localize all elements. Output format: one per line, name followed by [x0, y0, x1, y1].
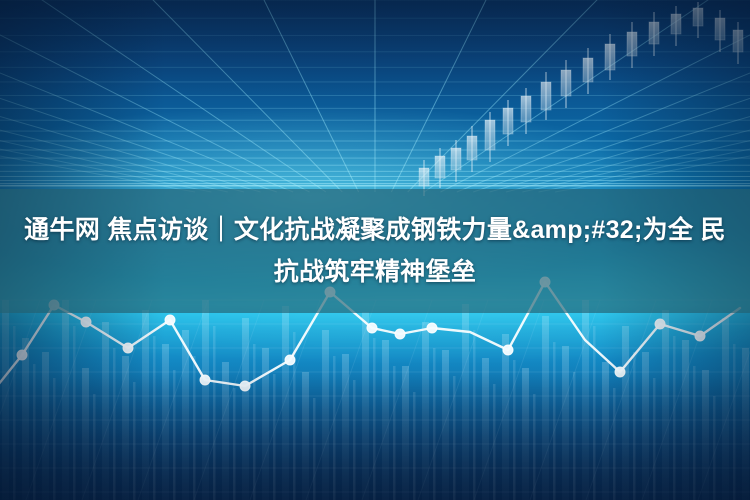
banner-image: 通牛网 焦点访谈｜文化抗战凝聚成钢铁力量&amp;#32;为全 民抗战筑牢精神堡… — [0, 0, 750, 500]
headline-band: 通牛网 焦点访谈｜文化抗战凝聚成钢铁力量&amp;#32;为全 民抗战筑牢精神堡… — [0, 189, 750, 313]
headline-line-1: 通牛网 焦点访谈｜文化抗战凝聚成钢铁力量&amp;#32;为全 — [24, 216, 693, 244]
headline-text: 通牛网 焦点访谈｜文化抗战凝聚成钢铁力量&amp;#32;为全 民抗战筑牢精神堡… — [19, 209, 731, 293]
